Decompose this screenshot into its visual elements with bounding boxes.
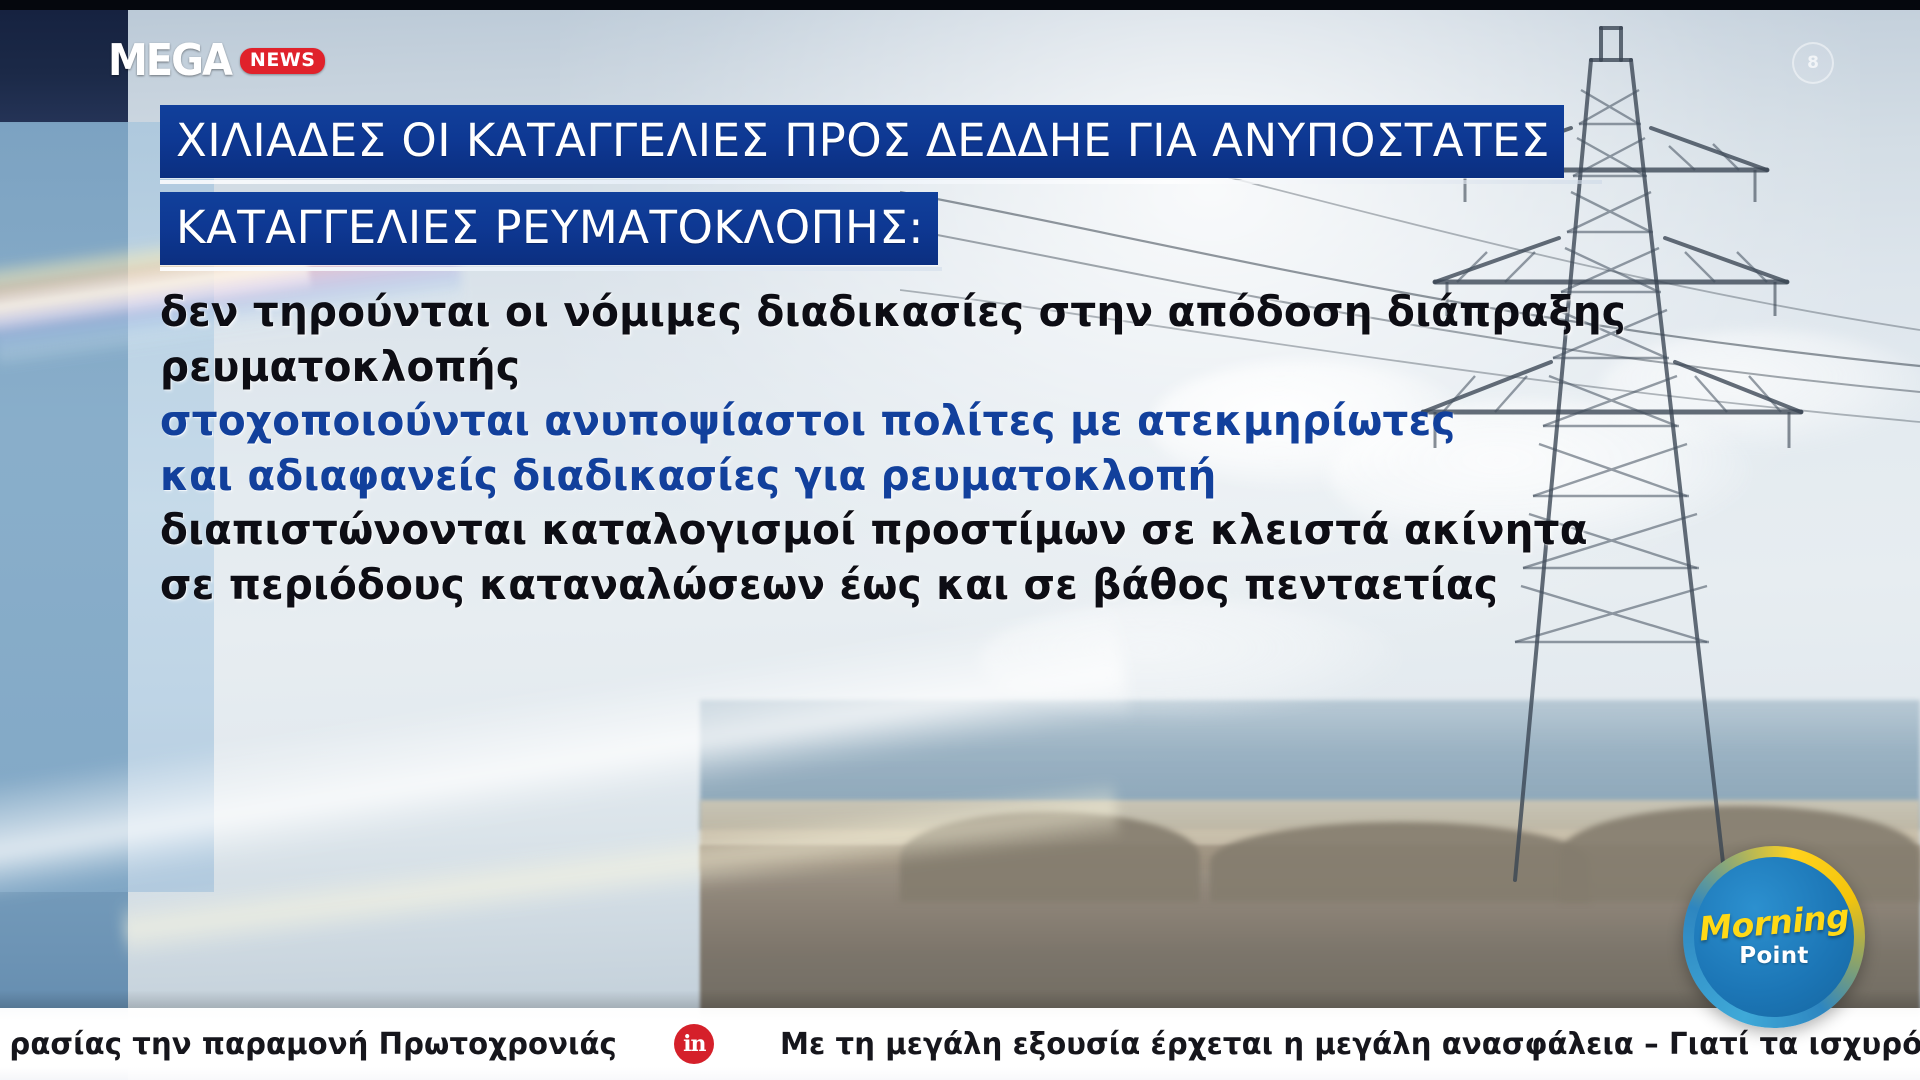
caption-body-line: ρευματοκλοπής — [160, 340, 1801, 395]
headline-line-1: ΧΙΛΙΑΔΕΣ ΟΙ ΚΑΤΑΓΓΕΛΙΕΣ ΠΡΟΣ ΔΕΔΔΗΕ ΓΙΑ … — [160, 105, 1564, 178]
caption-body-line: δεν τηρούνται οι νόμιμες διαδικασίες στη… — [160, 285, 1801, 340]
letterbox-bar-top — [0, 0, 1920, 10]
ticker-track: ρασίας την παραμονή Πρωτοχρονιάς in Με τ… — [0, 1024, 1920, 1064]
caption-body-line: διαπιστώνονται καταλογισμοί προστίμων σε… — [160, 503, 1801, 558]
headline-line-2: ΚΑΤΑΓΓΕΛΙΕΣ ΡΕΥΜΑΤΟΚΛΟΠΗΣ: — [160, 192, 938, 265]
ticker-item: ρασίας την παραμονή Πρωτοχρονιάς — [0, 1027, 642, 1062]
channel-number-bug: 8 — [1792, 42, 1834, 84]
show-badge-morning-point: Morning Point — [1683, 846, 1865, 1028]
badge-inner: Morning Point — [1694, 857, 1854, 1017]
news-ticker: ρασίας την παραμονή Πρωτοχρονιάς in Με τ… — [0, 1008, 1920, 1080]
broadcast-screenshot: MEGA NEWS 8 ΧΙΛΙΑΔΕΣ ΟΙ ΚΑΤΑΓΓΕΛΙΕΣ ΠΡΟΣ… — [0, 0, 1920, 1080]
caption-body-line: στοχοποιούνται ανυποψίαστοι πολίτες με α… — [160, 394, 1801, 449]
caption-body: δεν τηρούνται οι νόμιμες διαδικασίες στη… — [160, 285, 1860, 613]
badge-line-morning: Morning — [1698, 900, 1851, 946]
mega-wordmark-text: MEGA — [108, 39, 231, 82]
news-badge: NEWS — [240, 48, 326, 74]
caption-body-line: και αδιαφανείς διαδικασίες για ρευματοκλ… — [160, 449, 1801, 504]
headline-separator-2 — [160, 267, 942, 271]
ticker-item: Με τη μεγάλη εξουσία έρχεται η μεγάλη αν… — [755, 1027, 1920, 1062]
lower-third-caption: ΧΙΛΙΑΔΕΣ ΟΙ ΚΑΤΑΓΓΕΛΙΕΣ ΠΡΟΣ ΔΕΔΔΗΕ ΓΙΑ … — [160, 105, 1860, 613]
headline-separator — [160, 180, 1602, 184]
ticker-drop-shadow — [0, 990, 1920, 1008]
caption-body-line: σε περιόδους καταναλώσεων έως και σε βάθ… — [160, 558, 1801, 613]
badge-line-point: Point — [1739, 945, 1808, 968]
channel-logo: MEGA NEWS — [108, 44, 325, 78]
in-logo-icon: in — [674, 1024, 714, 1064]
mega-wordmark: MEGA — [108, 44, 231, 78]
